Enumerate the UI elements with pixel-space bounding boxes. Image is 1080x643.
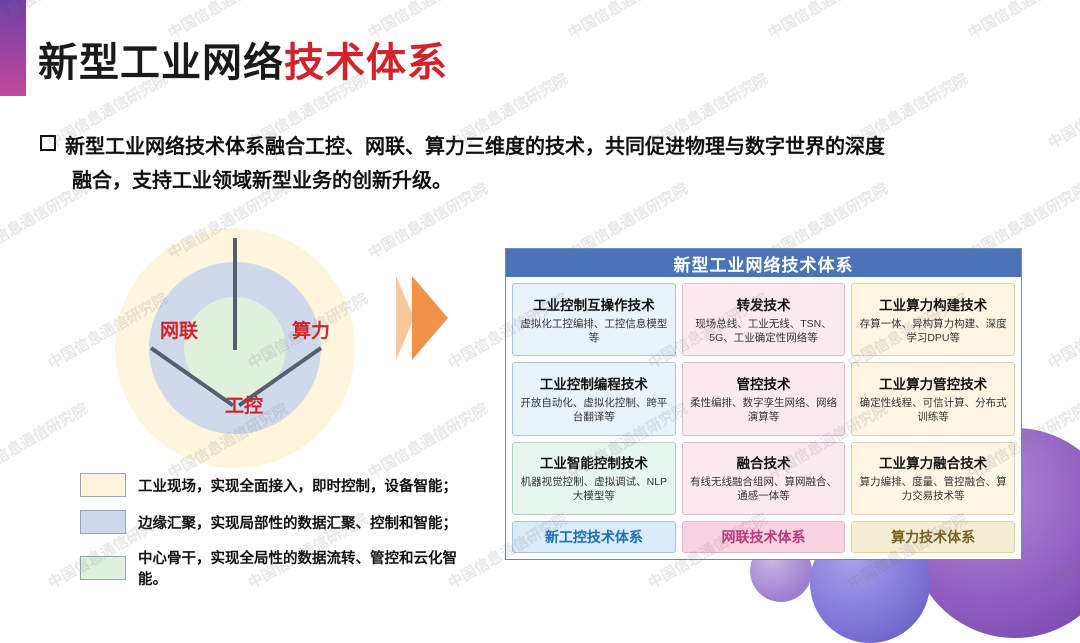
bullet-paragraph: 新型工业网络技术体系融合工控、网联、算力三维度的技术，共同促进物理与数字世界的深…: [40, 130, 1030, 198]
card-management: 管控技术 柔性编排、数字孪生网络、网络演算等: [682, 362, 846, 435]
watermark-text: 中国信息通信研究院: [564, 0, 691, 43]
card-title: 转发技术: [737, 294, 791, 314]
page-title-accent: 技术体系: [284, 41, 448, 85]
watermark-text: 中国信息通信研究院: [1044, 288, 1080, 374]
card-compute-converge: 工业算力融合技术 算力编排、度量、管控融合、算力交易技术等: [851, 442, 1015, 515]
page-title-main: 新型工业网络: [38, 41, 284, 85]
card-title: 融合技术: [737, 452, 791, 472]
column-network: 转发技术 现场总线、工业无线、TSN、5G、工业确定性网络等 管控技术 柔性编排…: [682, 283, 846, 553]
tech-system-panel: 新型工业网络技术体系 工业控制互操作技术 虚拟化工控编排、工控信息模型等 工业控…: [505, 248, 1022, 560]
card-desc: 存算一体、异构算力构建、深度学习DPU等: [857, 317, 1009, 345]
watermark-text: 中国信息通信研究院: [764, 0, 891, 43]
concentric-rings: [115, 228, 355, 468]
legend-swatch: [80, 510, 126, 534]
card-title: 工业算力融合技术: [879, 452, 987, 472]
card-programming: 工业控制编程技术 开放自动化、虚拟化控制、跨平台翻译等: [512, 362, 676, 435]
card-title: 管控技术: [737, 373, 791, 393]
card-desc: 开放自动化、虚拟化控制、跨平台翻译等: [518, 396, 670, 424]
arrow-head-icon: [412, 276, 448, 360]
bullet-line-2: 融合，支持工业领域新型业务的创新升级。: [72, 164, 1030, 198]
spoke-top: [233, 238, 237, 350]
card-title: 工业控制互操作技术: [533, 294, 655, 314]
column-footer-network: 网联技术体系: [682, 521, 846, 553]
card-desc: 机器视觉控制、虚拟调试、NLP大模型等: [518, 475, 670, 503]
legend-item: 边缘汇聚，实现局部性的数据汇聚、控制和智能；: [80, 510, 480, 534]
page-title: 新型工业网络技术体系: [38, 30, 448, 88]
column-footer-industrial-control: 新工控技术体系: [512, 521, 676, 553]
legend-item: 工业现场，实现全面接入，即时控制，设备智能；: [80, 473, 480, 497]
card-compute-manage: 工业算力管控技术 确定性线程、可信计算、分布式训练等: [851, 362, 1015, 435]
label-wanglian: 网联: [160, 316, 198, 343]
card-convergence: 融合技术 有线无线融合组网、算网融合、通感一体等: [682, 442, 846, 515]
column-industrial-control: 工业控制互操作技术 虚拟化工控编排、工控信息模型等 工业控制编程技术 开放自动化…: [512, 283, 676, 553]
legend-swatch: [80, 556, 126, 580]
column-computing: 工业算力构建技术 存算一体、异构算力构建、深度学习DPU等 工业算力管控技术 确…: [851, 283, 1015, 553]
card-title: 工业控制编程技术: [540, 373, 648, 393]
label-suanli: 算力: [292, 316, 330, 343]
panel-header: 新型工业网络技术体系: [506, 249, 1021, 277]
watermark-text: 中国信息通信研究院: [1044, 68, 1080, 154]
card-title: 工业算力管控技术: [879, 373, 987, 393]
diagram-legend: 工业现场，实现全面接入，即时控制，设备智能； 边缘汇聚，实现局部性的数据汇聚、控…: [80, 473, 480, 602]
card-desc: 有线无线融合组网、算网融合、通感一体等: [688, 475, 840, 503]
card-desc: 柔性编排、数字孪生网络、网络演算等: [688, 396, 840, 424]
panel-columns: 工业控制互操作技术 虚拟化工控编排、工控信息模型等 工业控制编程技术 开放自动化…: [506, 277, 1021, 559]
card-title: 工业智能控制技术: [540, 452, 648, 472]
bullet-square-icon: [40, 135, 56, 151]
card-desc: 虚拟化工控编排、工控信息模型等: [518, 317, 670, 345]
column-footer-computing: 算力技术体系: [851, 521, 1015, 553]
legend-text: 工业现场，实现全面接入，即时控制，设备智能；: [138, 475, 457, 496]
card-interop: 工业控制互操作技术 虚拟化工控编排、工控信息模型等: [512, 283, 676, 356]
venn-diagram-block: 网联 算力 工控 工业现场，实现全面接入，即时控制，设备智能； 边缘汇聚，实现局…: [60, 228, 480, 558]
legend-text: 中心骨干，实现全局性的数据流转、管控和云化智能。: [138, 547, 480, 589]
bullet-line-1: 新型工业网络技术体系融合工控、网联、算力三维度的技术，共同促进物理与数字世界的深…: [65, 136, 885, 158]
card-desc: 确定性线程、可信计算、分布式训练等: [857, 396, 1009, 424]
card-forwarding: 转发技术 现场总线、工业无线、TSN、5G、工业确定性网络等: [682, 283, 846, 356]
legend-swatch: [80, 473, 126, 497]
watermark-text: 中国信息通信研究院: [964, 0, 1080, 43]
legend-item: 中心骨干，实现全局性的数据流转、管控和云化智能。: [80, 547, 480, 589]
card-title: 工业算力构建技术: [879, 294, 987, 314]
card-desc: 现场总线、工业无线、TSN、5G、工业确定性网络等: [688, 317, 840, 345]
card-intelligent-control: 工业智能控制技术 机器视觉控制、虚拟调试、NLP大模型等: [512, 442, 676, 515]
card-compute-build: 工业算力构建技术 存算一体、异构算力构建、深度学习DPU等: [851, 283, 1015, 356]
corner-accent-bar: [0, 0, 26, 96]
label-gongkong: 工控: [225, 391, 263, 418]
card-desc: 算力编排、度量、管控融合、算力交易技术等: [857, 475, 1009, 503]
legend-text: 边缘汇聚，实现局部性的数据汇聚、控制和智能；: [138, 512, 457, 533]
